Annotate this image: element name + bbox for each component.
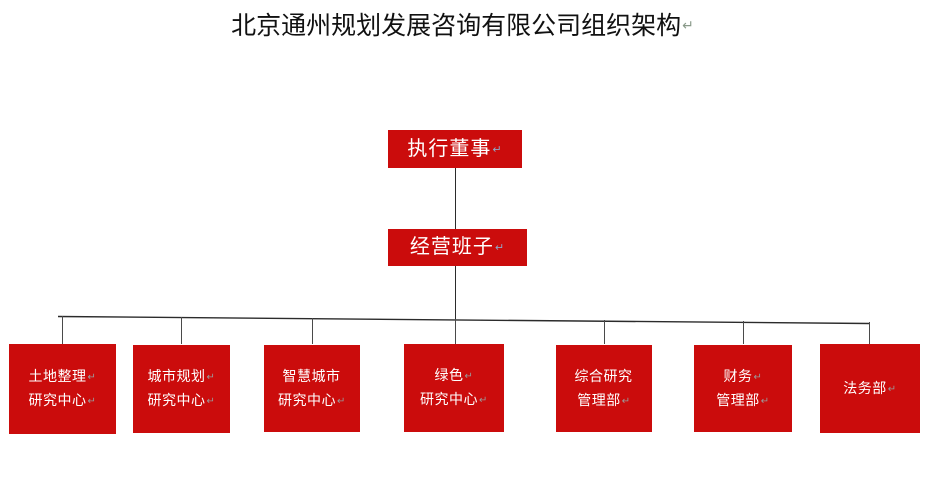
paragraph-mark-icon: ↵: [207, 372, 216, 383]
node-label-line-2: 管理部↵: [577, 389, 630, 413]
connector-stem-1: [62, 316, 63, 344]
node-label-line-1: 财务↵: [724, 365, 763, 389]
node-label-line-1: 绿色↵: [435, 364, 474, 388]
node-label-line-1: 法务部↵: [843, 377, 896, 401]
node-label-line-2: 研究中心↵: [420, 388, 488, 412]
paragraph-mark-icon: ↵: [207, 396, 216, 407]
paragraph-mark-icon: ↵: [88, 396, 97, 407]
connector-executive-to-management: [455, 167, 456, 230]
node-label-line-1: 综合研究: [575, 365, 634, 389]
org-chart: 北京通州规划发展咨询有限公司组织架构↵ 执行董事↵ 经营班子↵ 土地整理↵ 研究…: [0, 0, 925, 483]
paragraph-mark-icon: ↵: [479, 395, 488, 406]
node-label-line-1: 智慧城市: [283, 365, 342, 389]
node-executive-director[interactable]: 执行董事↵: [388, 130, 522, 168]
paragraph-mark-icon: ↵: [622, 396, 631, 407]
connector-stem-3: [312, 318, 313, 344]
paragraph-mark-icon: ↵: [682, 18, 694, 34]
node-label-line-2: 研究中心↵: [148, 389, 216, 413]
node-label-line-1: 城市规划↵: [148, 365, 216, 389]
paragraph-mark-icon: ↵: [761, 396, 770, 407]
node-land-consolidation-research-center[interactable]: 土地整理↵ 研究中心↵: [9, 344, 116, 434]
node-label-line-2: 研究中心↵: [278, 389, 346, 413]
paragraph-mark-icon: ↵: [492, 143, 502, 156]
paragraph-mark-icon: ↵: [465, 371, 474, 382]
node-legal-affairs-department[interactable]: 法务部↵: [820, 344, 920, 433]
connector-stem-7: [869, 322, 870, 344]
paragraph-mark-icon: ↵: [495, 241, 505, 254]
node-label-line-2: 研究中心↵: [29, 389, 97, 413]
connector-stem-6: [743, 321, 744, 344]
node-urban-planning-research-center[interactable]: 城市规划↵ 研究中心↵: [133, 345, 230, 433]
node-label-line-1: 土地整理↵: [29, 365, 97, 389]
page-title-text: 北京通州规划发展咨询有限公司组织架构: [231, 12, 681, 40]
node-finance-management-department[interactable]: 财务↵ 管理部↵: [694, 345, 792, 432]
page-title: 北京通州规划发展咨询有限公司组织架构↵: [0, 10, 925, 42]
paragraph-mark-icon: ↵: [754, 372, 763, 383]
node-comprehensive-research-management-department[interactable]: 综合研究 管理部↵: [556, 345, 652, 432]
node-label-line-2: 管理部↵: [716, 389, 769, 413]
paragraph-mark-icon: ↵: [337, 396, 346, 407]
paragraph-mark-icon: ↵: [88, 372, 97, 383]
node-smart-city-research-center[interactable]: 智慧城市 研究中心↵: [264, 345, 360, 432]
connector-horizontal-bus: [55, 310, 873, 332]
connector-stem-4: [455, 319, 456, 344]
paragraph-mark-icon: ↵: [888, 384, 897, 395]
connector-stem-2: [181, 317, 182, 344]
node-label: 经营班子↵: [410, 234, 505, 261]
node-management-team[interactable]: 经营班子↵: [388, 229, 527, 266]
connector-stem-5: [604, 320, 605, 344]
node-green-research-center[interactable]: 绿色↵ 研究中心↵: [404, 344, 504, 432]
node-label: 执行董事↵: [407, 136, 502, 163]
